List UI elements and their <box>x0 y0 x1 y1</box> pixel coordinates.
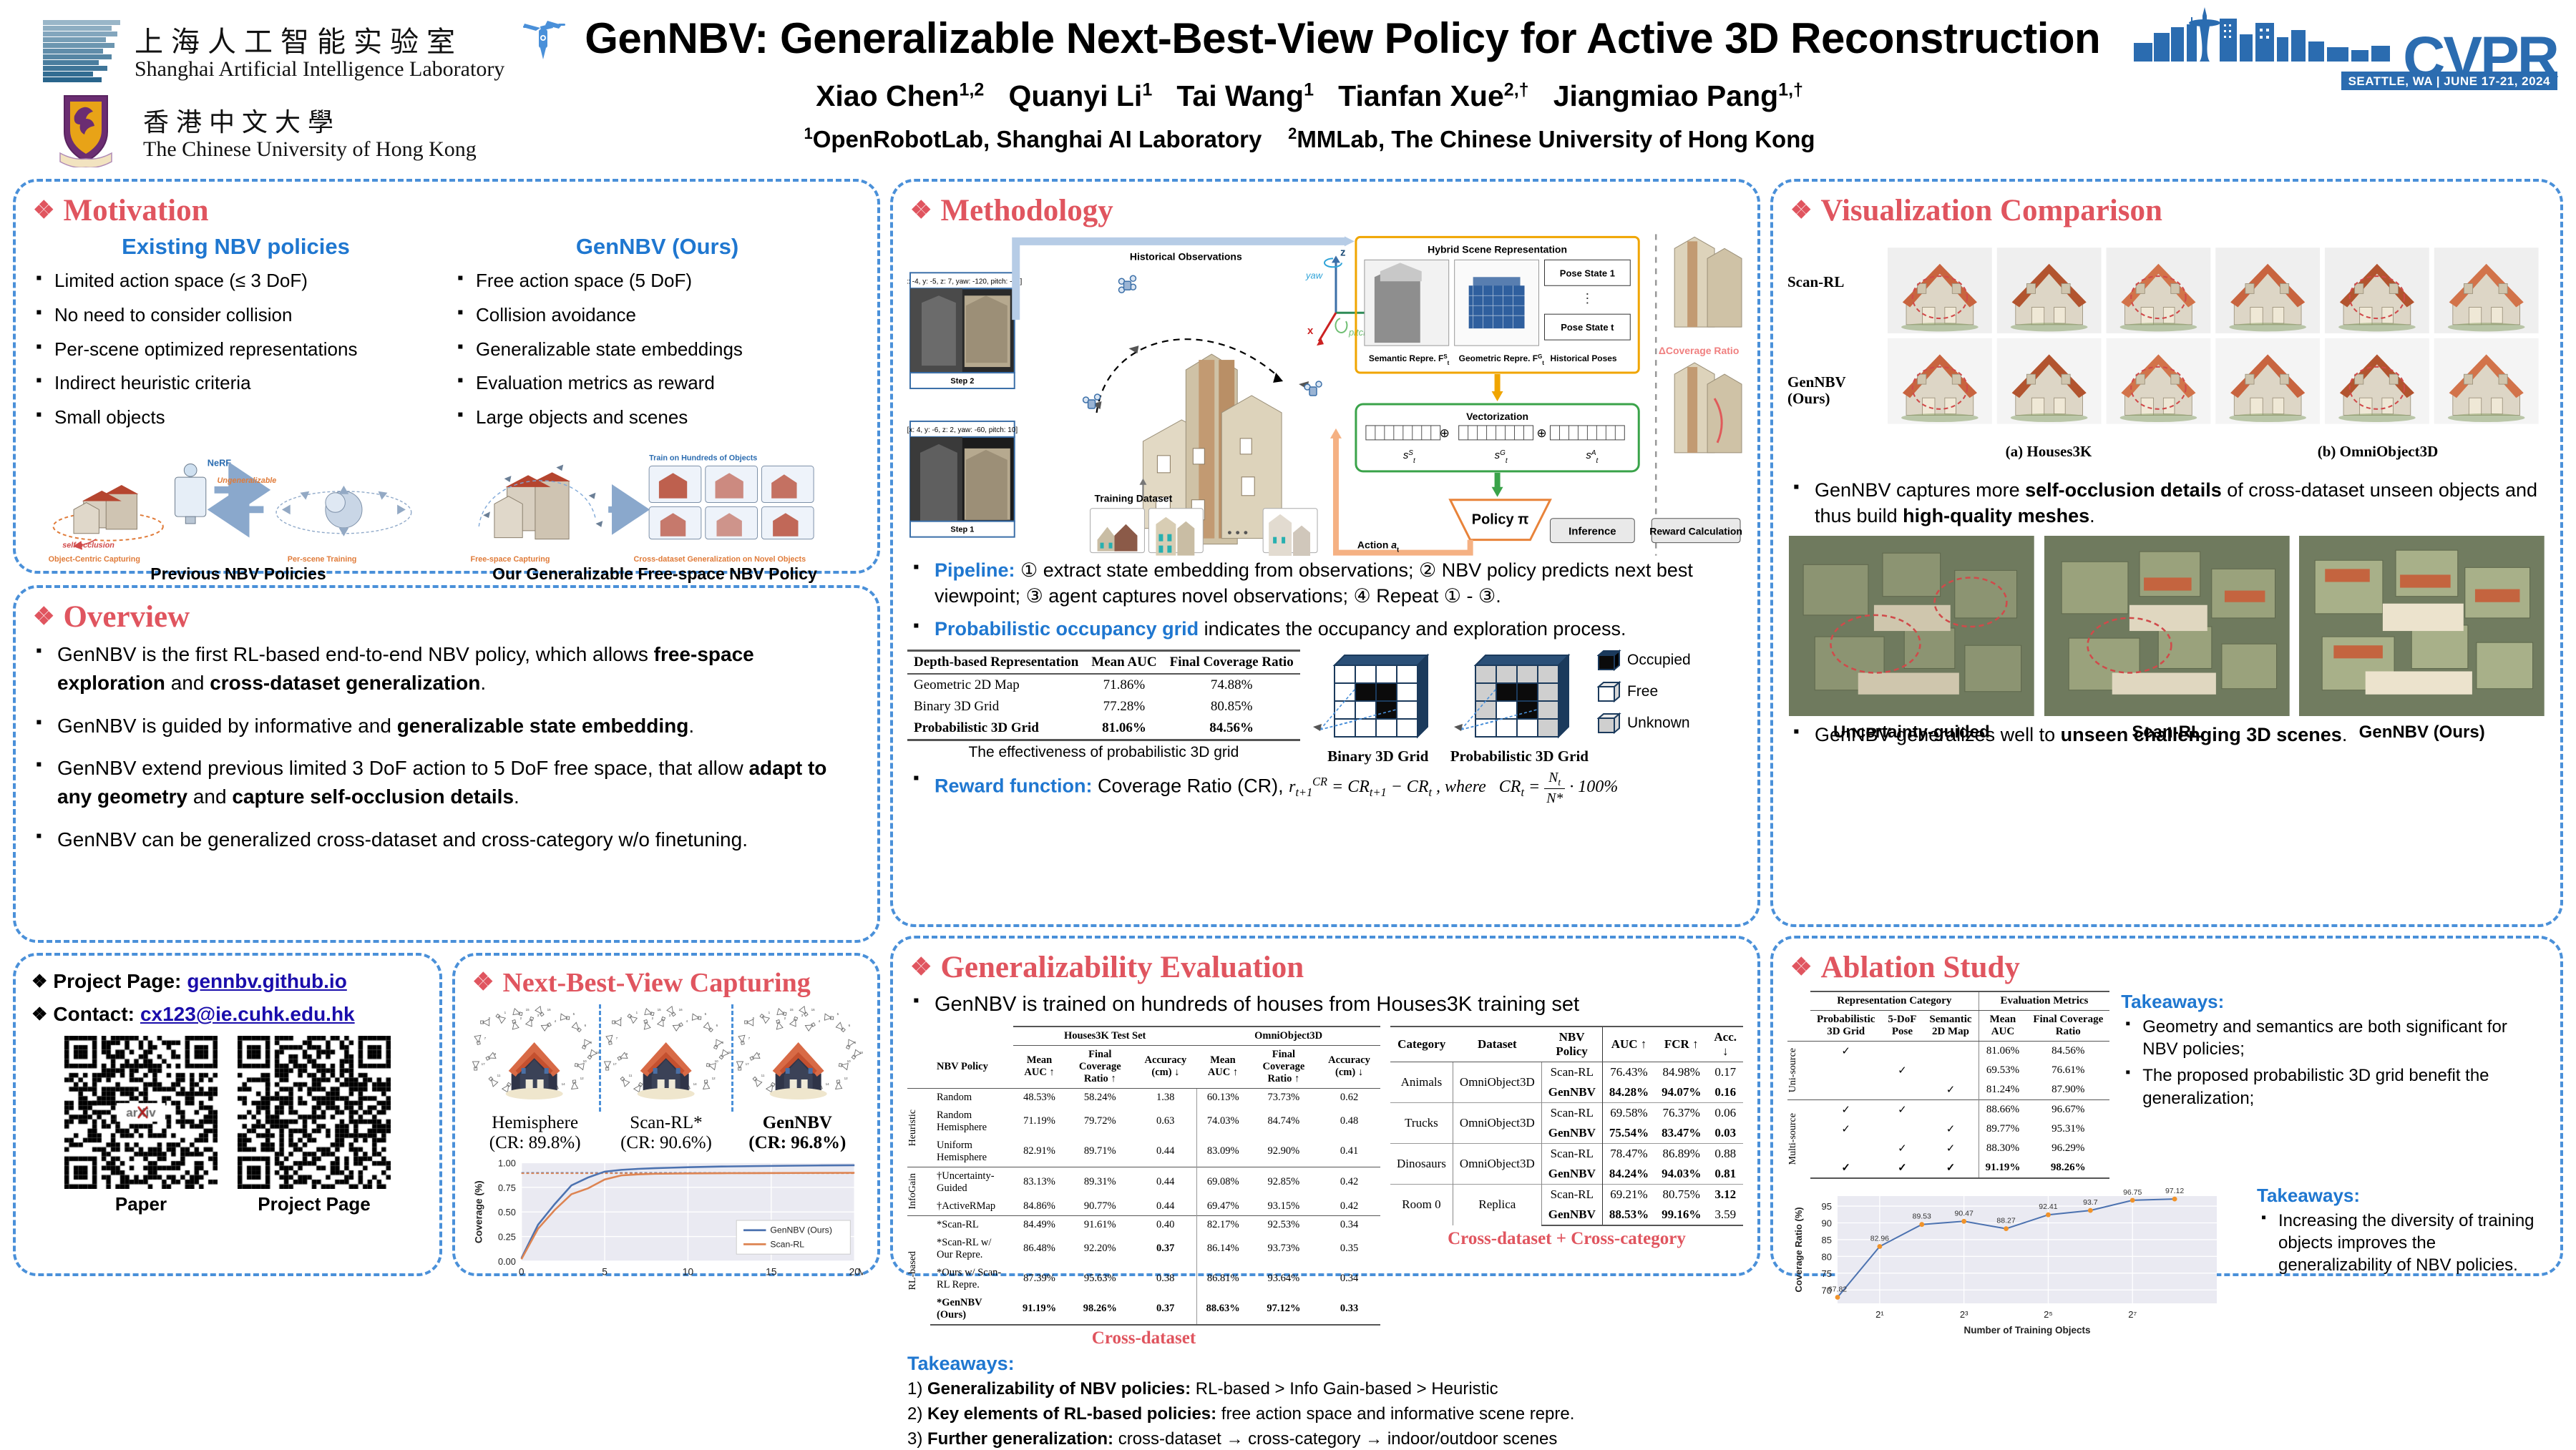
check-cell: ✓ <box>1923 1158 1979 1178</box>
metric-cell: 71.19% <box>1013 1107 1065 1137</box>
motivation-existing-column: Existing NBV policies Limited action spa… <box>30 234 441 439</box>
metric-cell: 95.31% <box>2026 1120 2109 1139</box>
metric-cell: 69.53% <box>1979 1061 2026 1080</box>
occupancy-table-header: Final Coverage Ratio <box>1163 650 1300 674</box>
table-row: ✓✓89.77%95.31% <box>1787 1120 2109 1139</box>
column-header: Semantic2D Map <box>1923 1011 1979 1042</box>
generalizability-bullet-list: GenNBV is trained on hundreds of houses … <box>907 991 1743 1019</box>
svg-text:Pose State 1: Pose State 1 <box>1560 268 1615 278</box>
author-name: Xiao Chen <box>816 79 959 112</box>
table-row: *GenNBV (Ours)91.19%98.26%0.3788.63%97.1… <box>907 1294 1380 1325</box>
pipeline-label: Pipeline: <box>935 559 1015 581</box>
scene-uncertainty-icon <box>1787 536 2036 716</box>
qr-paper[interactable] <box>64 1036 218 1189</box>
metric-cell: 48.53% <box>1013 1088 1065 1107</box>
metric-cell: 88.30% <box>1979 1139 2026 1158</box>
metric-cell: 0.34 <box>1318 1264 1380 1294</box>
nbv-capturing-panel: ❖ Next-Best-View Capturing 0 1 2 3 4 5 6… <box>452 953 880 1276</box>
svg-text:Number of Training Objects: Number of Training Objects <box>1963 1325 2090 1336</box>
svg-text:6: 6 <box>585 1024 587 1027</box>
methodology-panel: ❖ Methodology [x: -4, y: -5, z: 7, yaw: … <box>890 179 1760 927</box>
svg-text:15: 15 <box>658 1008 662 1011</box>
diamond-bullet-icon: ❖ <box>472 971 494 995</box>
column-header: FCR ↑ <box>1655 1027 1707 1062</box>
svg-text:0: 0 <box>752 1017 754 1020</box>
nbv-capture-name: Hemisphere <box>469 1113 600 1133</box>
svg-text:Cross-dataset Generalization o: Cross-dataset Generalization on Novel Ob… <box>634 555 806 564</box>
occupancy-table-row: Geometric 2D Map71.86%74.88% <box>907 674 1300 696</box>
motivation-item: Collision avoidance <box>452 303 863 328</box>
check-cell <box>1923 1100 1979 1120</box>
policy-cell: Scan-RL <box>1541 1102 1602 1123</box>
svg-text:11: 11 <box>761 1074 764 1077</box>
svg-text:0.75: 0.75 <box>498 1182 516 1193</box>
svg-text:93.7: 93.7 <box>2083 1198 2098 1207</box>
svg-text:Train on Hundreds of Objects: Train on Hundreds of Objects <box>649 454 757 463</box>
overview-title: Overview <box>63 599 190 635</box>
spacer <box>930 1027 1013 1046</box>
svg-text:10: 10 <box>683 1267 694 1278</box>
scene-cell: Scan-RL <box>2043 536 2291 716</box>
group-label-text: Uni-source <box>1787 1048 1799 1092</box>
cuhk-logo: 香港中文大學 The Chinese University of Hong Ko… <box>43 93 515 172</box>
occupancy-table-block: Depth-based RepresentationMean AUCFinal … <box>907 650 1300 761</box>
svg-text:67.82: 67.82 <box>1828 1285 1847 1293</box>
occupancy-row-name: Binary 3D Grid <box>907 696 1085 717</box>
visualization-panel: ❖ Visualization Comparison Scan-RL GenNB… <box>1770 179 2563 927</box>
metric-cell: 98.26% <box>2026 1158 2109 1178</box>
nbv-capture-cell: 0 1 2 3 4 5 6 7 8 9 10 <box>731 1004 863 1112</box>
methodology-title: Methodology <box>940 193 1113 228</box>
ablation-panel: ❖ Ablation Study Representation Category… <box>1770 936 2563 1276</box>
author-affiliation-marker: 2,† <box>1504 79 1529 99</box>
metric-cell: 94.03% <box>1655 1164 1707 1185</box>
poster-root: 上海人工智能实验室 Shanghai Artificial Intelligen… <box>0 0 2576 1288</box>
policy-name: Uniform Hemisphere <box>930 1137 1013 1167</box>
svg-text:1: 1 <box>504 1011 507 1014</box>
column-header: MeanAUC <box>1979 1011 2026 1042</box>
metric-cell: 3.12 <box>1707 1184 1743 1205</box>
metric-cell: 0.16 <box>1707 1082 1743 1103</box>
metric-cell: 79.72% <box>1065 1107 1135 1137</box>
check-cell: ✓ <box>1923 1120 1979 1139</box>
author-affiliation-marker: 1,2 <box>960 79 985 99</box>
metric-cell: 0.42 <box>1318 1167 1380 1197</box>
metric-cell: 0.41 <box>1318 1137 1380 1167</box>
policy-cell: Scan-RL <box>1541 1062 1602 1082</box>
svg-text:9: 9 <box>758 1052 760 1056</box>
overview-title-row: ❖ Overview <box>33 599 863 635</box>
nbv-capture-caption: Scan-RL*(CR: 90.6%) <box>600 1113 731 1153</box>
metric-cell: 75.54% <box>1602 1123 1655 1144</box>
reward-label: Reward function: <box>935 775 1093 796</box>
metric-cell: 86.14% <box>1196 1234 1249 1264</box>
occupancy-cell: 77.28% <box>1085 696 1163 717</box>
takeaway-item: The proposed probabilistic 3D grid benef… <box>2121 1064 2546 1109</box>
check-cell <box>1923 1061 1979 1080</box>
seattle-skyline-icon <box>2134 6 2406 62</box>
group-label-text: InfoGain <box>907 1173 919 1210</box>
metric-cell: 1.38 <box>1135 1088 1197 1107</box>
cube-icon <box>1597 712 1621 734</box>
metric-cell: 91.19% <box>1013 1294 1065 1325</box>
svg-text:82.96: 82.96 <box>1870 1235 1889 1243</box>
motivation-ours-column: GenNBV (Ours) Free action space (5 DoF)C… <box>452 234 863 439</box>
svg-text:Coverage (%): Coverage (%) <box>474 1180 484 1243</box>
svg-text:16: 16 <box>547 1008 552 1011</box>
category-cell: Trucks <box>1390 1102 1453 1143</box>
table-row: ✓81.24%87.90% <box>1787 1080 2109 1100</box>
dataset-cell: OmniObject3D <box>1453 1062 1541 1102</box>
nbv-capture-name: Scan-RL* <box>600 1113 731 1133</box>
dataset-cell: Replica <box>1453 1184 1541 1225</box>
metric-cell: 0.34 <box>1318 1215 1380 1234</box>
pipeline-bullet: Pipeline: ① extract state embedding from… <box>907 557 1743 609</box>
svg-text:12: 12 <box>712 1077 716 1080</box>
nbv-capturing-title-row: ❖ Next-Best-View Capturing <box>472 967 863 999</box>
metric-cell: 96.67% <box>2026 1100 2109 1120</box>
table-row: TrucksOmniObject3DScan-RL69.58%76.37%0.0… <box>1390 1102 1743 1123</box>
motivation-item: Limited action space (≤ 3 DoF) <box>30 268 441 293</box>
svg-text:Step 2: Step 2 <box>950 377 974 386</box>
metric-cell: 0.35 <box>1318 1234 1380 1264</box>
svg-text:Per-scene Training: Per-scene Training <box>288 555 357 564</box>
metric-cell: 84.98% <box>1655 1062 1707 1082</box>
nbv-capture-name: GenNBV <box>732 1113 863 1133</box>
check-cell: ✓ <box>1810 1158 1881 1178</box>
svg-text:4: 4 <box>555 1019 557 1023</box>
table-header-row: Houses3K Test SetOmniObject3D <box>907 1027 1380 1046</box>
visualization-note-list: GenNBV captures more self-occlusion deta… <box>1787 477 2546 529</box>
main-results-table: Houses3K Test SetOmniObject3DNBV PolicyM… <box>907 1026 1380 1326</box>
project-page-link[interactable]: gennbv.github.io <box>187 970 346 993</box>
table-row: †ActiveRMap84.86%90.77%0.4469.47%93.15%0… <box>907 1197 1380 1216</box>
motivation-title: Motivation <box>63 193 208 228</box>
metric-cell: 84.56% <box>2026 1042 2109 1062</box>
ablation-title-row: ❖ Ablation Study <box>1790 950 2546 985</box>
svg-text:11: 11 <box>497 1074 501 1077</box>
check-cell: ✓ <box>1923 1080 1979 1100</box>
scene-cell: GenNBV (Ours) <box>2298 536 2546 716</box>
table-row: *Ours w/ Scan-RL Repre.87.39%95.63%0.388… <box>907 1264 1380 1294</box>
occupancy-table-row: Binary 3D Grid77.28%80.85% <box>907 696 1300 717</box>
metric-cell: 83.47% <box>1655 1123 1707 1144</box>
check-cell <box>1881 1042 1923 1062</box>
overview-list: GenNBV is the first RL-based end-to-end … <box>30 640 863 854</box>
svg-text:11: 11 <box>629 1074 633 1077</box>
svg-text:6: 6 <box>716 1024 718 1027</box>
policy-name: *GenNBV (Ours) <box>930 1294 1013 1325</box>
author-name: Tianfan Xue <box>1338 79 1504 112</box>
cuhk-shield-icon <box>56 93 116 167</box>
svg-text:Geometric Repre. FGt: Geometric Repre. FGt <box>1459 353 1545 366</box>
cube-icon <box>1597 650 1621 671</box>
metric-cell: 84.74% <box>1249 1107 1319 1137</box>
motivation-ours-heading: GenNBV (Ours) <box>452 234 863 260</box>
cross-category-block: CategoryDatasetNBV PolicyAUC ↑FCR ↑Acc. … <box>1390 1026 1743 1348</box>
svg-text:75: 75 <box>1822 1268 1832 1279</box>
metric-cell: 0.17 <box>1707 1062 1743 1082</box>
svg-text:7: 7 <box>616 1037 618 1040</box>
svg-text:0.00: 0.00 <box>498 1256 516 1267</box>
policy-cell: GenNBV <box>1541 1082 1602 1103</box>
svg-text:4: 4 <box>818 1019 820 1023</box>
svg-text:89.53: 89.53 <box>1913 1213 1931 1221</box>
metric-cell: 0.81 <box>1707 1164 1743 1185</box>
svg-text:9: 9 <box>494 1052 497 1056</box>
main-results-block: Houses3K Test SetOmniObject3DNBV PolicyM… <box>907 1026 1380 1348</box>
nbv-capture-cell: 0 1 2 3 4 5 6 7 8 9 10 <box>469 1004 599 1112</box>
svg-text:16: 16 <box>811 1008 815 1011</box>
ablation-takeaways-1: Takeaways: Geometry and semantics are bo… <box>2121 991 2546 1179</box>
scene-scanrl-icon <box>2043 536 2291 716</box>
spacer <box>907 1027 930 1046</box>
check-cell: ✓ <box>1810 1042 1881 1062</box>
policy-name: Random Hemisphere <box>930 1107 1013 1137</box>
svg-text:2⁷: 2⁷ <box>2128 1309 2137 1320</box>
check-cell <box>1810 1139 1881 1158</box>
metric-cell: 92.90% <box>1249 1137 1319 1167</box>
svg-text:2¹: 2¹ <box>1875 1309 1884 1320</box>
svg-text:17: 17 <box>745 1062 749 1066</box>
metric-cell: 91.19% <box>1979 1158 2026 1178</box>
column-header: Probabilistic3D Grid <box>1810 1011 1881 1042</box>
metric-cell: 80.75% <box>1655 1184 1707 1205</box>
grid-legend-row: Free <box>1597 681 1691 702</box>
svg-text:10: 10 <box>715 1059 719 1063</box>
nbv-capturing-captions: Hemisphere(CR: 89.8%)Scan-RL*(CR: 90.6%)… <box>469 1113 863 1153</box>
svg-text:3: 3 <box>669 1014 671 1017</box>
grid-legend-label: Free <box>1627 683 1658 700</box>
metric-cell: 58.24% <box>1065 1088 1135 1107</box>
grid-legend-label: Unknown <box>1627 715 1690 732</box>
metric-cell: 86.89% <box>1655 1143 1707 1164</box>
motivation-panel: ❖ Motivation Existing NBV policies Limit… <box>13 179 880 574</box>
dataset-cell: OmniObject3D <box>1453 1143 1541 1184</box>
category-cell: Animals <box>1390 1062 1453 1102</box>
svg-text:8: 8 <box>590 1041 592 1044</box>
nbv-capturing-images: 0 1 2 3 4 5 6 7 8 9 10 <box>469 1004 863 1112</box>
svg-text:Object-Centric Capturing: Object-Centric Capturing <box>49 555 140 564</box>
metric-cell: 99.16% <box>1655 1205 1707 1225</box>
motivation-existing-heading: Existing NBV policies <box>30 234 441 260</box>
group-header: OmniObject3D <box>1196 1027 1380 1046</box>
prob-grid-block: Probabilistic 3D Grid <box>1450 650 1589 765</box>
metric-cell: 93.64% <box>1249 1264 1319 1294</box>
metric-cell: 69.47% <box>1196 1197 1249 1216</box>
group-label: Uni-source <box>1787 1042 1810 1100</box>
metric-cell: 83.09% <box>1196 1137 1249 1167</box>
ablation-takeaways-title-1: Takeaways: <box>2121 991 2546 1013</box>
metric-cell: 0.44 <box>1135 1137 1197 1167</box>
metric-cell: 76.43% <box>1602 1062 1655 1082</box>
group-label: Multi-source <box>1787 1100 1810 1179</box>
takeaway-item: 2) Key elements of RL-based policies: fr… <box>907 1403 1743 1425</box>
svg-text:14: 14 <box>825 1082 829 1086</box>
nbv-coverage-chart: 0.00 0.25 0.50 0.75 1.00 0 5 10 15 20Cov… <box>469 1156 863 1286</box>
column-header: AUC ↑ <box>1602 1027 1655 1062</box>
metric-cell: 92.20% <box>1065 1234 1135 1264</box>
author-name: Jiangmiao Pang <box>1553 79 1778 112</box>
metric-cell: 76.61% <box>2026 1061 2109 1080</box>
title-block: GenNBV: Generalizable Next-Best-View Pol… <box>501 16 2118 153</box>
vis-subcaption-b: (b) OmniObject3D <box>2217 443 2539 461</box>
probabilistic-3d-grid-icon <box>1451 650 1587 744</box>
qr-paper-caption: Paper <box>64 1193 218 1215</box>
spacer <box>1787 991 1810 1011</box>
nbv-capture-cr: (CR: 90.6%) <box>600 1133 731 1153</box>
pipeline-text: ① extract state embedding from observati… <box>935 559 1693 607</box>
metric-cell: 84.28% <box>1602 1082 1655 1103</box>
contact-email-link[interactable]: cx123@ie.cuhk.edu.hk <box>140 1003 355 1026</box>
metric-cell: 86.81% <box>1196 1264 1249 1294</box>
svg-text:92.41: 92.41 <box>2039 1202 2057 1211</box>
metric-cell: 69.21% <box>1602 1184 1655 1205</box>
column-header: Accuracy (cm) ↓ <box>1318 1045 1380 1088</box>
binary-3d-grid-icon <box>1310 650 1446 744</box>
cvpr-date-band: SEATTLE, WA | JUNE 17-21, 2024 <box>2341 72 2557 90</box>
motivation-existing-list: Limited action space (≤ 3 DoF)No need to… <box>30 268 441 430</box>
qr-project-page[interactable] <box>238 1036 391 1189</box>
metric-cell: 3.59 <box>1707 1205 1743 1225</box>
check-cell: ✓ <box>1810 1120 1881 1139</box>
svg-text:sSt: sSt <box>1403 449 1416 464</box>
sail-logo-en: Shanghai Artificial Intelligence Laborat… <box>135 57 504 82</box>
ablation-table: Representation CategoryEvaluation Metric… <box>1787 991 2109 1179</box>
poster-header: 上海人工智能实验室 Shanghai Artificial Intelligen… <box>0 0 2576 179</box>
generalizability-takeaways-list: 1) Generalizability of NBV policies: RL-… <box>907 1378 1743 1450</box>
svg-text:3: 3 <box>801 1014 803 1017</box>
metric-cell: 0.88 <box>1707 1143 1743 1164</box>
mesh-comparison-icon <box>1888 234 2546 441</box>
check-cell: ✓ <box>1881 1158 1923 1178</box>
svg-text:12: 12 <box>844 1077 848 1080</box>
motivation-item: Large objects and scenes <box>452 405 863 430</box>
check-cell: ✓ <box>1810 1100 1881 1120</box>
methodology-bullets: Pipeline: ① extract state embedding from… <box>907 557 1743 642</box>
svg-text:15: 15 <box>789 1008 794 1011</box>
svg-text:Vectorization: Vectorization <box>1466 411 1528 422</box>
policy-name: †Uncertainty-Guided <box>930 1167 1013 1197</box>
prob-grid-caption: Probabilistic 3D Grid <box>1450 748 1589 765</box>
svg-text:0.25: 0.25 <box>498 1232 516 1243</box>
svg-text:88.27: 88.27 <box>1996 1217 2015 1225</box>
metric-cell: 0.48 <box>1318 1107 1380 1137</box>
metric-cell: 86.48% <box>1013 1234 1065 1264</box>
metric-cell: 76.37% <box>1655 1102 1707 1123</box>
table-header-row: Representation CategoryEvaluation Metric… <box>1787 991 2109 1011</box>
metric-cell: 95.63% <box>1065 1264 1135 1294</box>
occupancy-cell: 71.86% <box>1085 674 1163 696</box>
svg-text:Historical Poses: Historical Poses <box>1550 353 1616 363</box>
affiliation-marker: 2 <box>1288 124 1297 142</box>
visualization-title: Visualization Comparison <box>1820 193 2162 228</box>
group-label: RL-based <box>907 1215 930 1325</box>
grid-illustrations: Binary 3D Grid <box>1310 650 1691 765</box>
overview-item: GenNBV is the first RL-based end-to-end … <box>30 640 863 697</box>
spacer <box>907 1045 930 1088</box>
metric-cell: 0.63 <box>1135 1107 1197 1137</box>
metric-cell: 92.53% <box>1249 1215 1319 1234</box>
svg-text:6: 6 <box>848 1024 850 1027</box>
nbv-capture-cr: (CR: 89.8%) <box>469 1133 600 1153</box>
table-row: ✓69.53%76.61% <box>1787 1061 2109 1080</box>
svg-text:Inference: Inference <box>1568 526 1616 538</box>
affiliation-text: OpenRobotLab, Shanghai AI Laboratory <box>813 126 1262 152</box>
motivation-figure-previous: self-occlusion NeRF Ungeneralizable <box>30 442 447 585</box>
svg-text:[x: 4, y: -6, z: 2, yaw: -60,: [x: 4, y: -6, z: 2, yaw: -60, pitch: 10] <box>907 426 1018 434</box>
occupancy-cell: 84.56% <box>1163 717 1300 740</box>
overview-item: GenNBV can be generalized cross-dataset … <box>30 826 863 854</box>
diamond-bullet-icon: ❖ <box>1790 956 1812 980</box>
ablation-takeaways-2: Takeaways: Increasing the diversity of t… <box>2257 1185 2546 1343</box>
table-header-row: Probabilistic3D Grid5-DoFPoseSemantic2D … <box>1787 1011 2109 1042</box>
policy-cell: GenNBV <box>1541 1164 1602 1185</box>
nbv-capture-cr: (CR: 96.8%) <box>732 1133 863 1153</box>
svg-text:Step 1: Step 1 <box>950 526 974 534</box>
svg-text:7: 7 <box>748 1037 750 1040</box>
table-header-row: NBV PolicyMean AUC ↑Final Coverage Ratio… <box>907 1045 1380 1088</box>
visualization-mesh-grid: Scan-RL GenNBV (Ours) <box>1787 234 2546 470</box>
svg-text:90.47: 90.47 <box>1955 1209 1974 1218</box>
check-cell: ✓ <box>1881 1061 1923 1080</box>
visualization-title-row: ❖ Visualization Comparison <box>1790 193 2546 228</box>
metric-cell: 88.53% <box>1602 1205 1655 1225</box>
nbv-capture-cell: 0 1 2 3 4 5 6 7 8 9 10 <box>599 1004 731 1112</box>
project-page-label: Project Page: <box>53 970 181 993</box>
motivation-figure-previous-caption: Previous NBV Policies <box>30 564 447 584</box>
svg-text:17: 17 <box>613 1062 618 1066</box>
metric-cell: 69.58% <box>1602 1102 1655 1123</box>
metric-cell: 92.85% <box>1249 1167 1319 1197</box>
cube-icon <box>1597 681 1621 702</box>
metric-cell: 60.13% <box>1196 1088 1249 1107</box>
scene-gennbv-icon <box>2298 536 2546 716</box>
qr-project-block: Project Page <box>238 1036 391 1215</box>
check-cell <box>1810 1061 1881 1080</box>
metric-cell: 93.15% <box>1249 1197 1319 1216</box>
metric-cell: 84.49% <box>1013 1215 1065 1234</box>
metric-cell: 78.47% <box>1602 1143 1655 1164</box>
reward-bullet-row: Reward function: Coverage Ratio (CR), rt… <box>907 768 1743 808</box>
svg-text:⋮: ⋮ <box>1581 291 1594 305</box>
metric-cell: 97.12% <box>1249 1294 1319 1325</box>
column-header: Mean AUC ↑ <box>1196 1045 1249 1088</box>
metric-cell: 81.06% <box>1979 1042 2026 1062</box>
svg-text:ΔCoverage Ratio: ΔCoverage Ratio <box>1659 345 1740 356</box>
nbv-capturing-title: Next-Best-View Capturing <box>502 967 810 999</box>
generalizability-takeaways-title: Takeaways: <box>907 1353 1743 1375</box>
svg-text:Historical Observations: Historical Observations <box>1130 250 1242 262</box>
metric-cell: 96.29% <box>2026 1139 2109 1158</box>
svg-text:3: 3 <box>537 1014 540 1017</box>
svg-text:Training Dataset: Training Dataset <box>1095 493 1173 504</box>
svg-text:Coverage Ratio (%): Coverage Ratio (%) <box>1793 1207 1804 1292</box>
scene-note-list: GenNBV generalizes well to unseen challe… <box>1787 722 2546 748</box>
group-header: Houses3K Test Set <box>1013 1027 1196 1046</box>
binary-grid-block: Binary 3D Grid <box>1310 650 1446 765</box>
svg-text:0: 0 <box>519 1267 525 1278</box>
group-label-text: RL-based <box>907 1251 919 1290</box>
contact-row: ❖ Contact: cx123@ie.cuhk.edu.hk <box>31 1003 425 1026</box>
check-cell <box>1881 1080 1923 1100</box>
metric-cell: 69.08% <box>1196 1167 1249 1197</box>
svg-text:90: 90 <box>1822 1218 1832 1229</box>
svg-text:Semantic Repre. FSt: Semantic Repre. FSt <box>1369 353 1450 366</box>
overview-item: GenNBV is guided by informative and gene… <box>30 712 863 740</box>
affiliation-text: MMLab, The Chinese University of Hong Ko… <box>1297 126 1815 152</box>
column-header: NBV Policy <box>930 1045 1013 1088</box>
